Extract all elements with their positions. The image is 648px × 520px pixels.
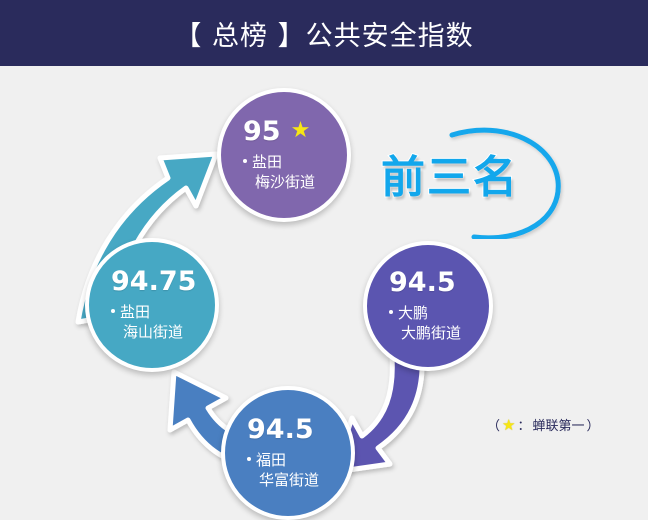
node-location: 大鹏 大鹏街道 bbox=[389, 303, 489, 344]
bullet-icon bbox=[111, 309, 115, 313]
node-score-row: 95 ★ bbox=[243, 118, 347, 145]
node-street: 海山街道 bbox=[111, 322, 215, 342]
node-district: 福田 bbox=[256, 451, 286, 469]
node-street: 华富街道 bbox=[247, 470, 351, 490]
node-district: 大鹏 bbox=[398, 304, 428, 322]
node-district-line: 福田 bbox=[247, 450, 351, 470]
bullet-icon bbox=[247, 457, 251, 461]
node-location: 福田 华富街道 bbox=[247, 450, 351, 491]
page-title: 【 总榜 】公共安全指数 bbox=[174, 14, 473, 53]
node-street: 梅沙街道 bbox=[243, 172, 347, 192]
node-score-row: 94.75 bbox=[111, 268, 215, 295]
node-district-line: 盐田 bbox=[243, 152, 347, 172]
node-circle-top[interactable]: 95 ★ 盐田 梅沙街道 bbox=[217, 88, 351, 222]
legend-open-paren: （ bbox=[487, 415, 500, 434]
node-district: 盐田 bbox=[120, 303, 150, 321]
bullet-icon bbox=[389, 310, 393, 314]
node-district-line: 盐田 bbox=[111, 302, 215, 322]
node-location: 盐田 梅沙街道 bbox=[243, 152, 347, 193]
node-score: 94.5 bbox=[389, 269, 456, 296]
legend-separator: ： bbox=[517, 415, 530, 434]
legend-text: 蝉联第一 bbox=[532, 415, 584, 434]
node-district: 盐田 bbox=[252, 153, 282, 171]
node-score-row: 94.5 bbox=[247, 416, 351, 443]
node-street: 大鹏街道 bbox=[389, 323, 489, 343]
node-district-line: 大鹏 bbox=[389, 303, 489, 323]
legend-close-paren: ） bbox=[587, 415, 600, 434]
badge-label: 前三名 bbox=[381, 141, 519, 205]
node-circle-left[interactable]: 94.75 盐田 海山街道 bbox=[85, 238, 219, 372]
page-header: 【 总榜 】公共安全指数 bbox=[0, 0, 648, 66]
node-circle-bottom[interactable]: 94.5 福田 华富街道 bbox=[221, 386, 355, 520]
legend-star-icon: ★ bbox=[502, 416, 515, 434]
star-icon: ★ bbox=[291, 120, 311, 142]
legend: （ ★ ： 蝉联第一 ） bbox=[487, 415, 600, 434]
node-score: 95 bbox=[243, 118, 281, 145]
node-circle-right[interactable]: 94.5 大鹏 大鹏街道 bbox=[363, 241, 493, 371]
node-score: 94.75 bbox=[111, 268, 196, 295]
node-score-row: 94.5 bbox=[389, 269, 489, 296]
infographic-canvas: 95 ★ 盐田 梅沙街道 94.5 大鹏 大鹏街道 94.5 福田 华富街道 bbox=[0, 66, 648, 520]
node-score: 94.5 bbox=[247, 416, 314, 443]
bullet-icon bbox=[243, 159, 247, 163]
node-location: 盐田 海山街道 bbox=[111, 302, 215, 343]
top-three-badge: 前三名 bbox=[378, 121, 583, 239]
